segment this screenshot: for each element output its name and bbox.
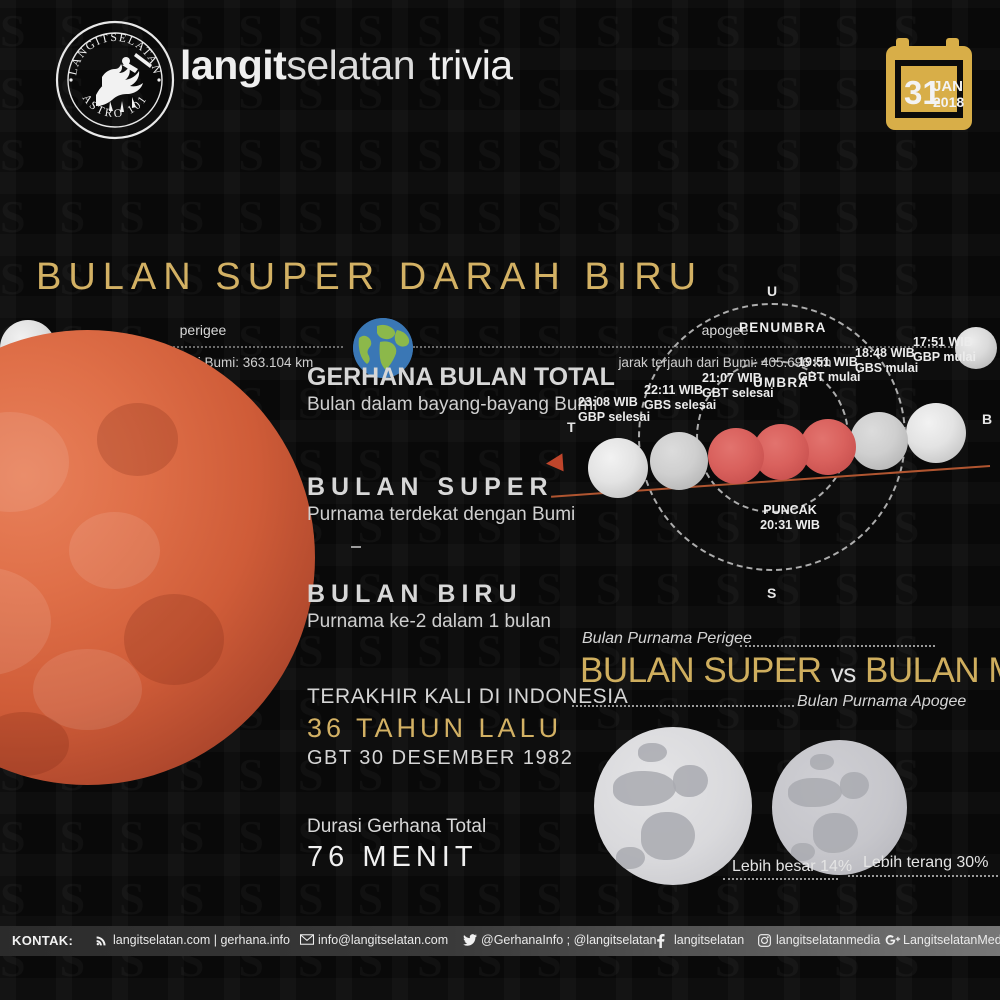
phase-label-3: 21:07 WIB GBT selesai xyxy=(702,371,774,401)
comparison-title-left: BULAN SUPER xyxy=(580,651,822,690)
fact-3-title: BULAN BIRU xyxy=(307,580,551,609)
stat-right-line xyxy=(848,875,998,877)
perigee-caption-line xyxy=(740,645,935,647)
fact-block-2: BULAN SUPER Purnama terdekat dengan Bumi xyxy=(307,473,575,526)
duration-value: 76 MENIT xyxy=(307,841,486,874)
cardinal-south: S xyxy=(767,585,776,601)
eclipse-moon-gbp-selesai xyxy=(588,438,648,498)
supermoon-disc xyxy=(594,727,752,885)
stat-left: Lebih besar 14% xyxy=(732,858,852,876)
contact-item-googleplus[interactable]: LangitselatanMedia xyxy=(885,933,1000,947)
contact-googleplus-text: LangitselatanMedia xyxy=(903,933,1000,947)
divider-dash xyxy=(351,546,361,548)
perigee-caption: Bulan Purnama Perigee xyxy=(582,630,752,648)
phase-2-time: 22:11 WIB xyxy=(644,383,703,397)
calendar-year: 2018 xyxy=(933,94,964,110)
phase-4-time: 19:51 WIB xyxy=(798,355,858,369)
fact-3-subtitle: Purnama ke-2 dalam 1 bulan xyxy=(307,611,551,633)
brand-light: selatan xyxy=(286,42,415,88)
rss-icon xyxy=(95,934,108,947)
penumbra-label: PENUMBRA xyxy=(739,320,827,335)
duration-block: Durasi Gerhana Total 76 MENIT xyxy=(307,816,486,874)
fact-block-3: BULAN BIRU Purnama ke-2 dalam 1 bulan xyxy=(307,580,551,633)
instagram-icon xyxy=(758,934,771,947)
comparison-title-vs: vs xyxy=(831,658,856,688)
phase-1-time: 23:08 WIB xyxy=(578,395,638,409)
comparison-title: BULAN SUPER vs BULAN MINI xyxy=(580,651,1000,691)
phase-3-event: GBT selesai xyxy=(702,386,774,400)
phase-3-time: 21:07 WIB xyxy=(702,371,762,385)
distance-bar: perigee jarak terdekat dari Bumi: 363.10… xyxy=(0,155,1000,250)
header: LANGITSELATAN ASTRO 101 langitselatantri… xyxy=(0,0,1000,150)
infographic-page: SSSSSSSSSSSSSSSSSSSSSSSSSSSSSSSSSSSSSSSS… xyxy=(0,0,1000,1000)
phase-5-time: 18:48 WIB xyxy=(855,346,915,360)
peak-time: 20:31 WIB xyxy=(760,518,820,532)
twitter-icon xyxy=(463,934,476,947)
googleplus-icon xyxy=(885,934,898,947)
peak-title: PUNCAK xyxy=(763,503,816,517)
comparison-title-right: BULAN MINI xyxy=(865,651,1000,690)
apogee-caption-line xyxy=(572,705,794,707)
phase-5-event: GBS mulai xyxy=(855,361,918,375)
contact-item-website[interactable]: langitselatan.com | gerhana.info xyxy=(95,933,290,947)
eclipse-moon-gbp-mulai xyxy=(906,403,966,463)
phase-1-event: GBP selesai xyxy=(578,410,650,424)
contact-facebook-text: langitselatan xyxy=(674,933,744,947)
eclipse-moon-gbt-selesai xyxy=(708,428,764,484)
fact-2-subtitle: Purnama terdekat dengan Bumi xyxy=(307,504,575,526)
calendar-icon: 31 JAN 2018 xyxy=(884,34,974,134)
brand-bold: langit xyxy=(180,42,286,88)
eclipse-moon-gbs-selesai xyxy=(650,432,708,490)
contact-email-text: info@langitselatan.com xyxy=(318,933,448,947)
contact-item-instagram[interactable]: langitselatanmedia xyxy=(758,933,880,947)
peak-label: PUNCAK 20:31 WIB xyxy=(740,503,840,533)
cardinal-east: T xyxy=(567,419,576,435)
envelope-icon xyxy=(300,934,313,947)
cardinal-west: B xyxy=(982,411,992,427)
apogee-caption: Bulan Purnama Apogee xyxy=(797,693,966,711)
contact-label: KONTAK: xyxy=(12,933,73,948)
calendar-month: JAN xyxy=(933,78,963,95)
contact-item-email[interactable]: info@langitselatan.com xyxy=(300,933,448,947)
brand-title: langitselatantrivia xyxy=(180,42,513,89)
supermoon-vs-minimoon: Bulan Purnama Perigee BULAN SUPER vs BUL… xyxy=(560,625,1000,905)
brand-suffix: trivia xyxy=(429,42,513,88)
phase-label-6: 17:51 WIB GBP mulai xyxy=(913,335,976,365)
stat-right: Lebih terang 30% xyxy=(863,854,988,872)
phase-label-4: 19:51 WIB GBT mulai xyxy=(798,355,861,385)
fact-2-title: BULAN SUPER xyxy=(307,473,575,502)
contact-instagram-text: langitselatanmedia xyxy=(776,933,880,947)
contact-item-twitter[interactable]: @GerhanaInfo ; @langitselatan xyxy=(463,933,656,947)
cardinal-north: U xyxy=(767,283,777,299)
blood-moon-image xyxy=(0,330,315,785)
stat-left-line xyxy=(723,878,838,880)
path-arrow-icon xyxy=(545,453,563,472)
phase-6-time: 17:51 WIB xyxy=(913,335,973,349)
phase-4-event: GBT mulai xyxy=(798,370,861,384)
contact-website-text: langitselatan.com | gerhana.info xyxy=(113,933,290,947)
facebook-icon xyxy=(656,934,669,947)
langitselatan-logo: LANGITSELATAN ASTRO 101 xyxy=(52,17,178,143)
eclipse-path-diagram: U S B T PENUMBRA UMBRA 23:08 WIB GBP sel… xyxy=(550,275,1000,615)
contact-twitter-text: @GerhanaInfo ; @langitselatan xyxy=(481,933,656,947)
duration-label: Durasi Gerhana Total xyxy=(307,816,486,838)
phase-label-5: 18:48 WIB GBS mulai xyxy=(855,346,918,376)
phase-6-event: GBP mulai xyxy=(913,350,976,364)
eclipse-moon-gbs-mulai xyxy=(850,412,908,470)
contact-item-facebook[interactable]: langitselatan xyxy=(656,933,744,947)
phase-label-1: 23:08 WIB GBP selesai xyxy=(578,395,650,425)
